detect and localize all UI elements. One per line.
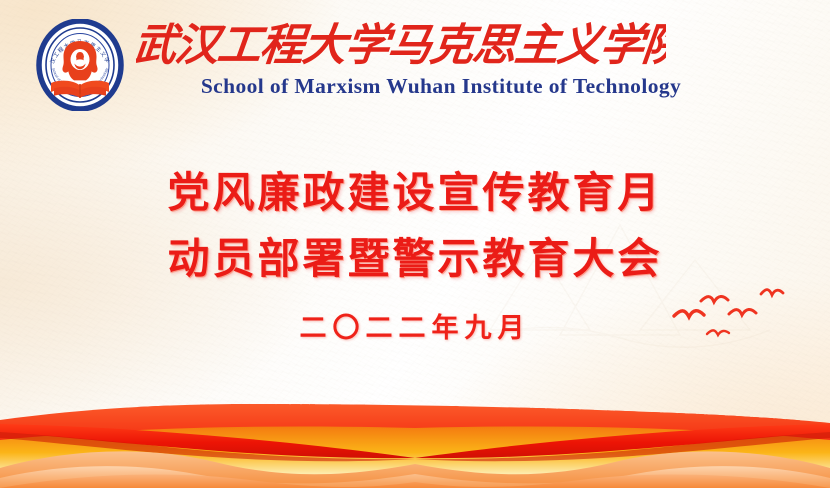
institution-name-en: School of Marxism Wuhan Institute of Tec… (0, 74, 830, 99)
header: 武汉工程大学马克思主义学院 School of Marxism Wuhan In… (0, 0, 830, 120)
poster-canvas: 武汉工程大学马克思主义学院 School of Marxism Wuhan In… (0, 0, 830, 488)
footer-scenery (0, 328, 830, 488)
svg-text:武汉工程大学马克思主义学院: 武汉工程大学马克思主义学院 (136, 20, 666, 71)
institution-name-cn: 武汉工程大学马克思主义学院 (136, 13, 666, 75)
title-line-1: 党风廉政建设宣传教育月 (0, 160, 830, 226)
